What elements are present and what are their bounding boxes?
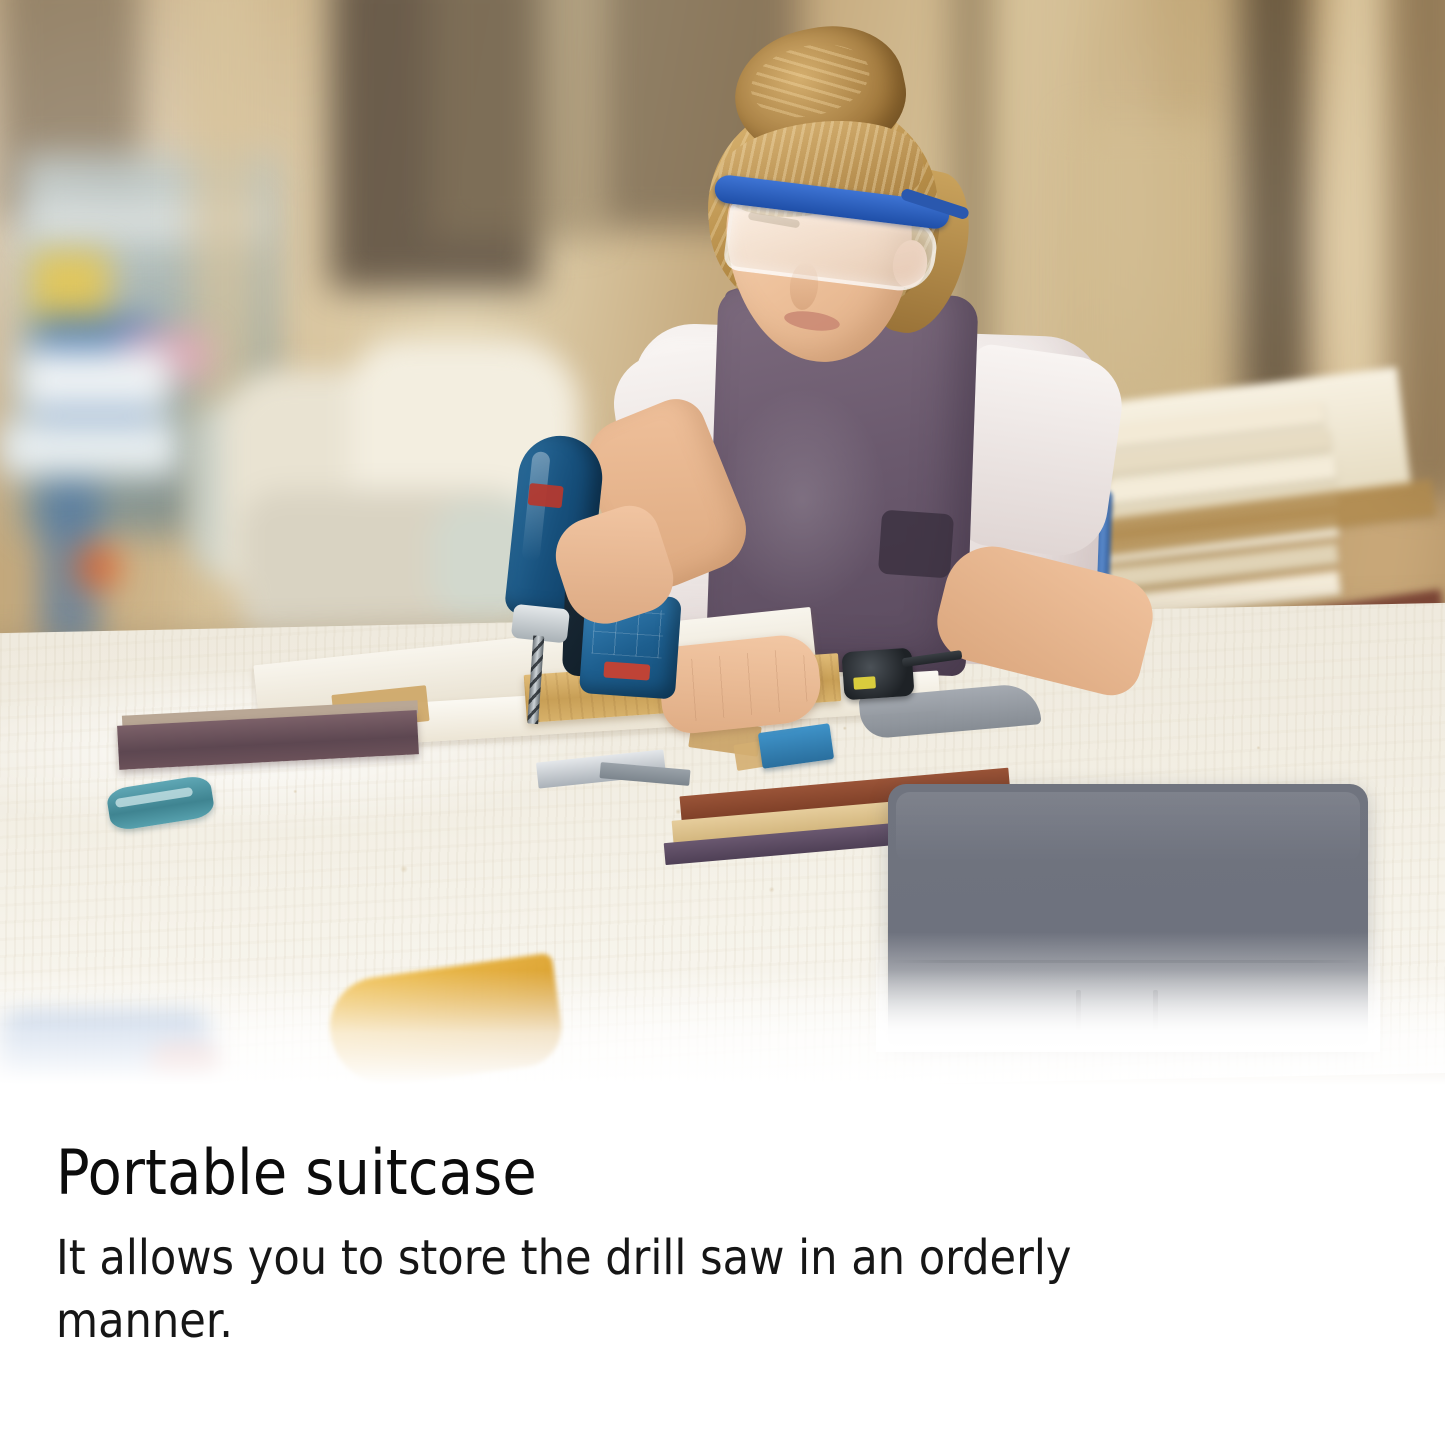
- feature-description: It allows you to store the drill saw in …: [56, 1227, 1226, 1354]
- product-photo: [0, 0, 1445, 1085]
- tape-measure: [841, 648, 914, 701]
- photo-bottom-fade: [0, 970, 1445, 1085]
- feature-headline: Portable suitcase: [56, 1140, 1387, 1205]
- feature-text-block: Portable suitcase It allows you to store…: [0, 1085, 1445, 1445]
- apron-pocket: [878, 510, 954, 579]
- arm-steadying-board: [929, 536, 1161, 701]
